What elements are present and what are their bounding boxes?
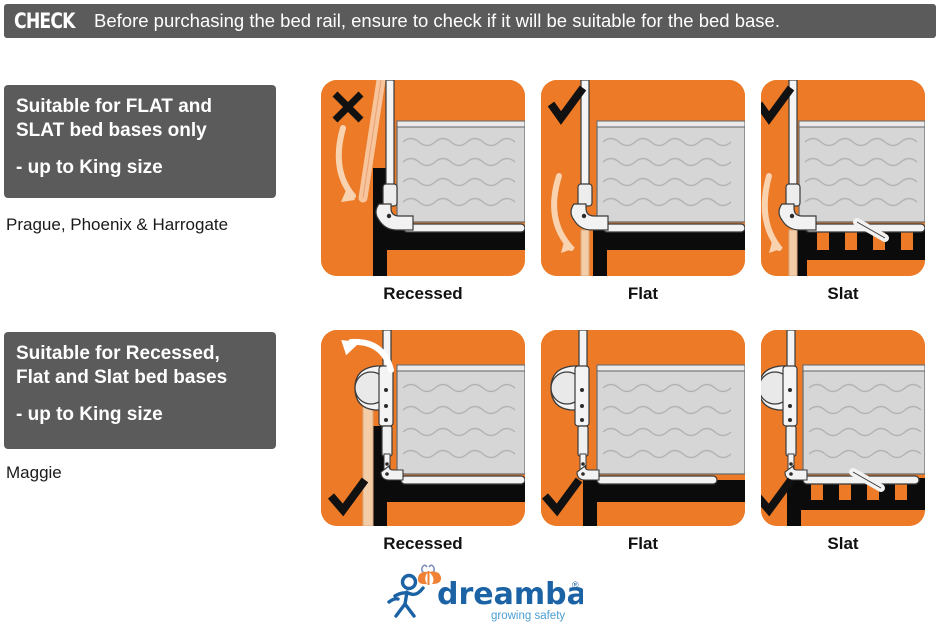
check-banner: CHECK Before purchasing the bed rail, en… [4, 4, 936, 38]
mattress [597, 365, 745, 474]
child-figure-icon [389, 576, 423, 617]
illustration-panel-row2-slat [761, 330, 925, 526]
logo-tagline: growing safety [491, 610, 565, 622]
info-heading-line2: SLAT bed bases only [16, 119, 264, 143]
info-heading-line2: Flat and Slat bed bases [16, 366, 264, 390]
info-size-note: - up to King size [16, 157, 264, 179]
mattress [799, 121, 925, 222]
check-badge-label: CHECK [14, 9, 75, 33]
check-message: Before purchasing the bed rail, ensure t… [94, 10, 780, 32]
illustration-panel-row2-flat [541, 330, 745, 526]
info-block-all-bases: Suitable for Recessed, Flat and Slat bed… [4, 332, 276, 449]
logo-registered-mark: ® [572, 580, 579, 590]
mattress [397, 121, 525, 222]
mattress [597, 121, 745, 222]
panel-label-row2-slat: Slat [761, 534, 925, 554]
panel-label-row2-flat: Flat [541, 534, 745, 554]
illustration-panel-row1-recessed [321, 80, 525, 276]
logo-wordmark-text: dreambaby [437, 577, 583, 612]
info-heading-line1: Suitable for Recessed, [16, 342, 264, 366]
illustration-panel-row1-slat [761, 80, 925, 276]
illustration-panel-row2-recessed [321, 330, 525, 526]
info-size-note: - up to King size [16, 404, 264, 426]
panel-label-row2-recessed: Recessed [321, 534, 525, 554]
dreambaby-logo: dreambaby ® growing safety [383, 562, 583, 624]
info-heading-line1: Suitable for FLAT and [16, 95, 264, 119]
info-models-row2: Maggie [6, 463, 62, 483]
illustration-panel-row1-flat [541, 80, 745, 276]
mattress [397, 365, 525, 474]
panel-label-row1-slat: Slat [761, 284, 925, 304]
info-block-flat-slat: Suitable for FLAT and SLAT bed bases onl… [4, 85, 276, 198]
info-models-row1: Prague, Phoenix & Harrogate [6, 215, 228, 235]
panel-label-row1-recessed: Recessed [321, 284, 525, 304]
panel-label-row1-flat: Flat [541, 284, 745, 304]
mattress [803, 365, 925, 474]
